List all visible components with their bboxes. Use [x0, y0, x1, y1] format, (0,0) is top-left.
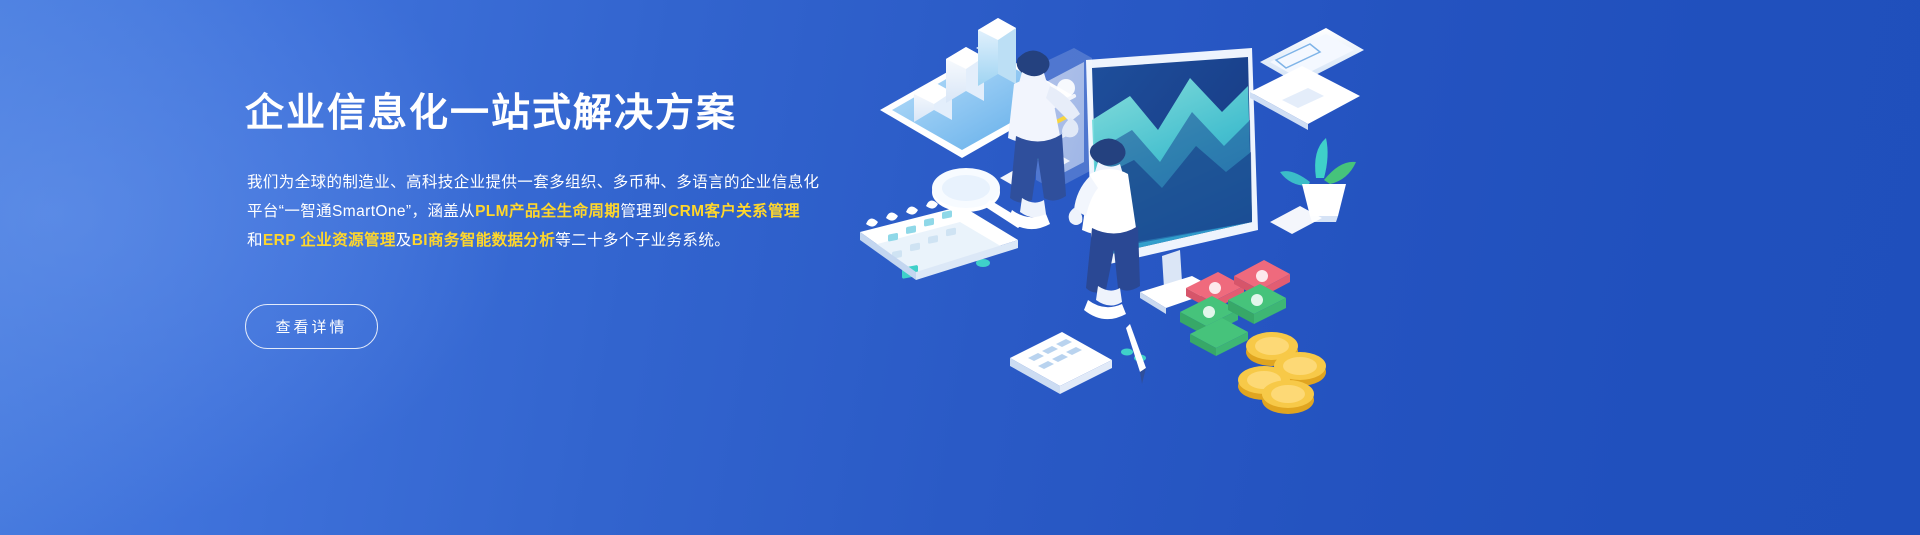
hero-description: 我们为全球的制造业、高科技企业提供一套多组织、多币种、多语言的企业信息化 平台“… — [247, 168, 807, 255]
page-title: 企业信息化一站式解决方案 — [245, 88, 737, 140]
hero-banner: 企业信息化一站式解决方案 我们为全球的制造业、高科技企业提供一套多组织、多币种、… — [0, 0, 1920, 535]
line3-text-a: 和 — [247, 232, 263, 249]
description-line-1: 我们为全球的制造业、高科技企业提供一套多组织、多币种、多语言的企业信息化 — [247, 168, 807, 197]
calculator — [1010, 332, 1112, 394]
keyword-bi: BI商务智能数据分析 — [412, 232, 556, 249]
line3-text-c: 等二十多个子业务系统。 — [555, 232, 730, 249]
keyword-crm: CRM客户关系管理 — [668, 203, 800, 220]
description-line-2: 平台“一智通SmartOne”，涵盖从PLM产品全生命周期管理到CRM客户关系管… — [247, 197, 807, 226]
potted-plant — [1280, 138, 1356, 222]
gold-coins — [1238, 332, 1326, 414]
laptop — [1250, 28, 1364, 130]
keyword-plm: PLM产品全生命周期 — [475, 203, 620, 220]
view-details-button[interactable]: 查看详情 — [245, 304, 378, 349]
line3-text-b: 及 — [396, 232, 412, 249]
hero-illustration — [840, 0, 1440, 535]
hero-content: 企业信息化一站式解决方案 我们为全球的制造业、高科技企业提供一套多组织、多币种、… — [245, 0, 845, 535]
description-line-1-text: 我们为全球的制造业、高科技企业提供一套多组织、多币种、多语言的企业信息化 — [247, 174, 819, 191]
keyword-erp: ERP 企业资源管理 — [263, 232, 396, 249]
line2-text-b: 管理到 — [620, 203, 668, 220]
line2-text-a: 平台“一智通SmartOne”，涵盖从 — [247, 203, 475, 220]
description-line-3: 和ERP 企业资源管理及BI商务智能数据分析等二十多个子业务系统。 — [247, 226, 807, 255]
